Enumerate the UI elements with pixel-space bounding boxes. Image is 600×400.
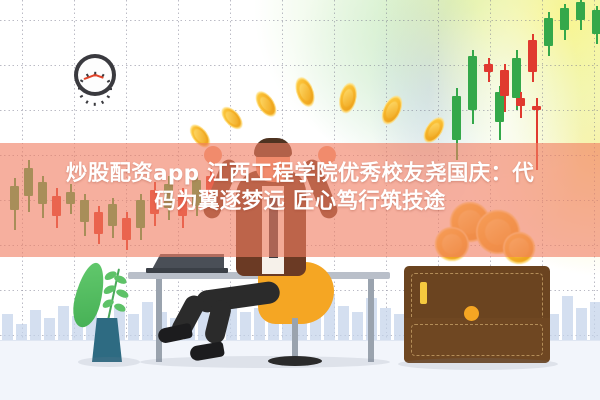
grid-line-horizontal [0,110,600,111]
coin-inner [297,82,312,102]
banner-image: 炒股配资app 江西工程学院优秀校友尧国庆：代 码为翼逐梦远 匠心笃行筑技途 [0,0,600,400]
headline-line-1: 炒股配资app 江西工程学院优秀校友尧国庆：代 [0,160,600,188]
headline-line-2: 码为翼逐梦远 匠心笃行筑技途 [0,188,600,216]
candle-body [560,8,569,30]
bar-chart-bar [30,310,41,340]
desk-leg-left [156,279,162,362]
desk-leg-right [368,279,374,362]
candlestick-up [544,12,553,56]
coin-inner [341,88,354,108]
clock-tick [78,88,81,90]
bar-chart-bar [44,318,55,340]
candlestick-up [468,50,477,124]
candle-body [528,40,537,72]
bar-chart-bar [338,306,349,340]
wallet-flap-stitching [411,324,543,356]
page-title: 炒股配资app 江西工程学院优秀校友尧国庆：代 码为翼逐梦远 匠心笃行筑技途 [0,160,600,217]
leather-wallet [404,266,550,363]
candlestick-down [528,34,537,82]
clock-tick [109,88,112,90]
bar-chart-bar [380,308,391,340]
candle-body [484,64,493,72]
candlestick-down [500,64,509,112]
grid-line-horizontal [0,20,600,21]
plant-vase [92,318,122,362]
wallet-ground-shadow [398,358,558,370]
bar-chart-bar [58,306,69,340]
candle-body [532,106,541,110]
laptop-base [146,268,228,273]
bar-chart-bar [240,312,251,340]
candle-body [592,10,600,34]
candlestick-up [560,4,569,40]
wall-clock-icon [74,54,116,96]
candlestick-up [576,0,585,30]
bar-chart-bar [16,324,27,340]
candlestick-up [592,6,600,44]
candlestick-down [516,92,525,118]
candle-body [452,96,461,140]
bar-chart-bar [352,312,363,340]
candle-body [544,18,553,46]
candle-body [468,56,477,110]
bar-chart-bar [2,314,13,340]
clock-tick [94,103,96,106]
candle-body [576,2,585,20]
candle-body [500,70,509,96]
bar-chart-bar [128,314,139,340]
bar-chart-bar [142,302,153,340]
bar-chart-bar [562,296,573,340]
chair-base [268,356,322,366]
candle-body [516,98,525,106]
bar-chart-bar [576,308,587,340]
wallet-clasp-button [464,306,479,321]
plant-shadow [78,357,140,367]
bar-chart-bar [590,302,600,340]
candlestick-down [484,58,493,82]
wallet-card-edge [420,282,427,304]
desk-shadow [140,356,390,368]
